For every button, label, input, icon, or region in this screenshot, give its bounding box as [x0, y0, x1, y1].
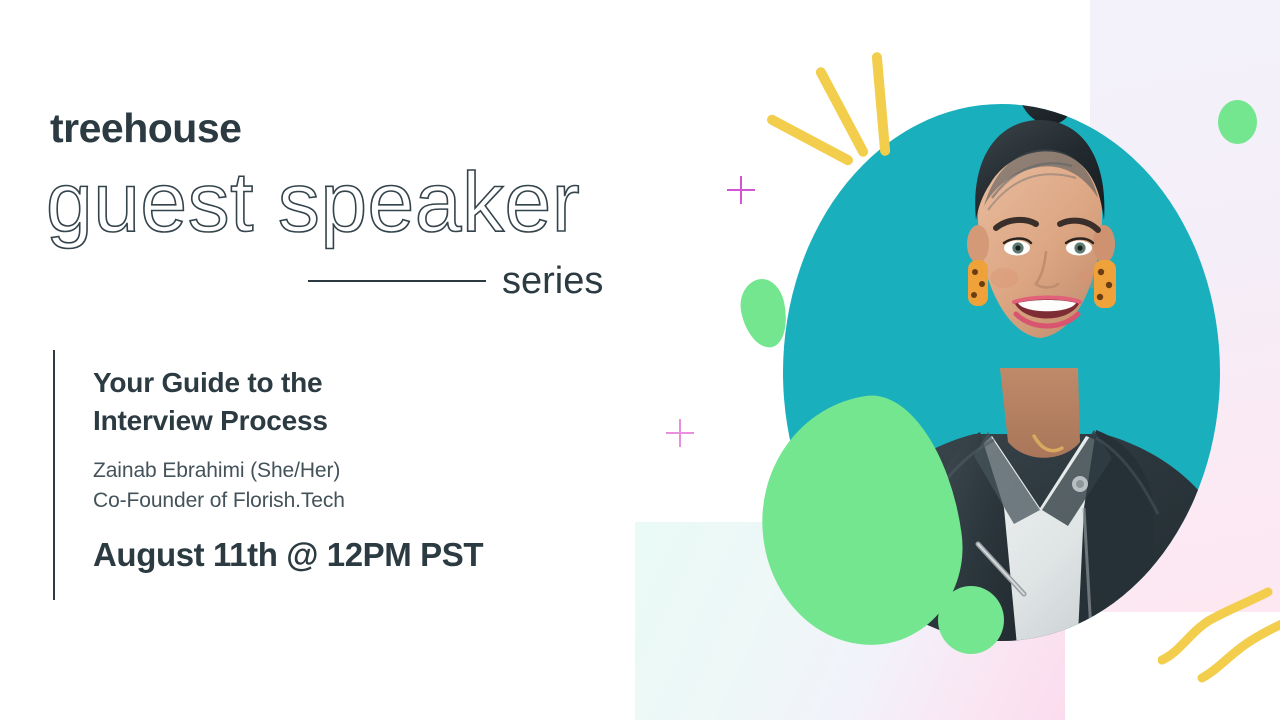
- brand-wordmark: treehouse: [50, 108, 241, 149]
- slide-content: treehouse guest speaker series Your Guid…: [0, 0, 680, 720]
- event-datetime: August 11th @ 12PM PST: [93, 538, 483, 571]
- green-bean-shape-small: [735, 275, 792, 352]
- plus-mark-icon-top: [727, 176, 755, 204]
- event-detail-block: Your Guide to the Interview Process Zain…: [53, 350, 483, 600]
- promo-slide: treehouse guest speaker series Your Guid…: [0, 0, 1280, 720]
- speaker-role: Co-Founder of Florish.Tech: [93, 486, 483, 516]
- series-label: series: [502, 262, 603, 300]
- speaker-portrait: [828, 38, 1248, 720]
- series-row: series: [308, 258, 628, 304]
- talk-title-line-2: Interview Process: [93, 402, 483, 440]
- series-divider-rule: [308, 280, 486, 282]
- speaker-name: Zainab Ebrahimi (She/Her): [93, 456, 483, 486]
- talk-title: Your Guide to the Interview Process: [93, 364, 483, 440]
- talk-title-line-1: Your Guide to the: [93, 364, 483, 402]
- headline-outline-text: guest speaker: [46, 160, 580, 244]
